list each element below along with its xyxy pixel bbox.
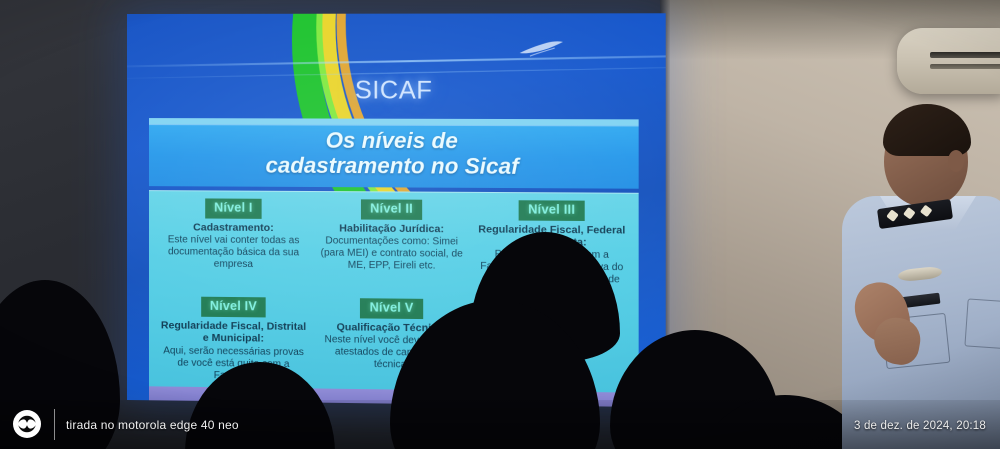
- heading-band: Os níveis de cadastramento no Sicaf: [149, 124, 639, 189]
- heading-line-1: Os níveis de: [149, 124, 639, 155]
- watermark-bar: tirada no motorola edge 40 neo 3 de dez.…: [0, 400, 1000, 449]
- photo-of-presentation-room: SICAF Os níveis de cadastramento no Sica…: [0, 0, 1000, 449]
- level-cell-2: Nível II Habilitação Jurídica: Documenta…: [312, 197, 471, 297]
- motorola-batwing-icon: [13, 410, 41, 438]
- level-body: Este nível vai conter todas as documenta…: [159, 234, 308, 271]
- watermark-caption: tirada no motorola edge 40 neo: [66, 418, 239, 432]
- level-badge: Nível III: [519, 200, 585, 220]
- slide-title: SICAF: [127, 76, 666, 106]
- level-subtitle: Habilitação Jurídica:: [316, 222, 467, 236]
- level-badge: Nível II: [361, 199, 422, 219]
- level-subtitle: Regularidade Fiscal, Distrital e Municip…: [159, 319, 308, 345]
- level-body: Documentações como: Simei (para MEI) e c…: [316, 235, 467, 273]
- air-conditioner-unit: [897, 28, 1000, 94]
- heading-line-2: cadastramento no Sicaf: [149, 153, 639, 180]
- air-conditioner-vent: [930, 52, 1000, 58]
- dove-logo-icon: [518, 40, 565, 60]
- level-cell-1: Nível I Cadastramento: Este nível vai co…: [155, 196, 312, 296]
- level-badge: Nível IV: [201, 297, 266, 317]
- level-subtitle: Cadastramento:: [159, 221, 308, 234]
- watermark-divider: [54, 409, 55, 440]
- presenter-ear: [948, 150, 964, 172]
- watermark-timestamp: 3 de dez. de 2024, 20:18: [854, 420, 986, 432]
- presenter-side-pocket: [964, 298, 1000, 349]
- level-badge: Nível I: [205, 198, 262, 218]
- level-badge: Nível V: [360, 298, 422, 318]
- air-conditioner-vent-secondary: [930, 64, 1000, 69]
